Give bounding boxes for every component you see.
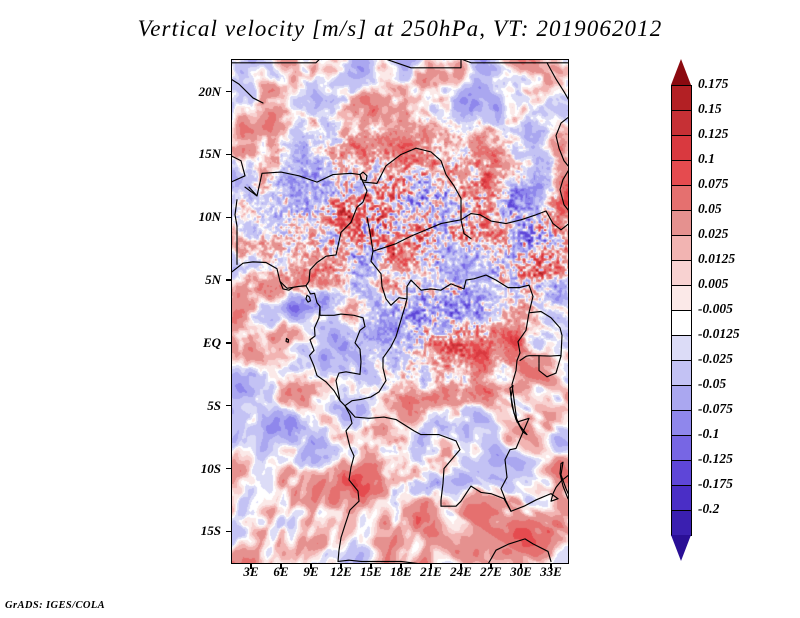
colorbar-tick-label: -0.2 bbox=[698, 501, 719, 517]
colorbar-tick-label: -0.125 bbox=[698, 451, 733, 467]
colorbar-arrow-min bbox=[671, 535, 691, 561]
map-panel[interactable] bbox=[231, 59, 569, 564]
colorbar[interactable] bbox=[671, 59, 692, 561]
colorbar-band bbox=[671, 410, 692, 436]
y-tick bbox=[226, 217, 231, 218]
y-tick bbox=[226, 342, 231, 343]
colorbar-band bbox=[671, 210, 692, 236]
colorbar-tick-label: -0.075 bbox=[698, 401, 733, 417]
y-tick bbox=[226, 91, 231, 92]
colorbar-band bbox=[671, 460, 692, 486]
colorbar-arrow-max bbox=[671, 59, 691, 85]
colorbar-tick-label: 0.175 bbox=[698, 76, 728, 92]
colorbar-tick-label: -0.05 bbox=[698, 376, 726, 392]
colorbar-tick-label: -0.1 bbox=[698, 426, 719, 442]
y-tick bbox=[226, 405, 231, 406]
colorbar-band bbox=[671, 285, 692, 311]
colorbar-band bbox=[671, 185, 692, 211]
y-tick bbox=[226, 279, 231, 280]
colorbar-tick-label: -0.005 bbox=[698, 301, 733, 317]
y-tick bbox=[226, 154, 231, 155]
colorbar-band bbox=[671, 110, 692, 136]
grads-figure: Vertical velocity [m/s] at 250hPa, VT: 2… bbox=[0, 0, 800, 618]
y-axis-label: 15S bbox=[171, 523, 221, 539]
colorbar-tick-label: 0.05 bbox=[698, 201, 722, 217]
y-axis-label: 20N bbox=[171, 84, 221, 100]
attribution-footer: GrADS: IGES/COLA bbox=[5, 600, 105, 611]
page-title: Vertical velocity [m/s] at 250hPa, VT: 2… bbox=[0, 16, 800, 42]
y-axis-label: 15N bbox=[171, 146, 221, 162]
colorbar-band bbox=[671, 310, 692, 336]
colorbar-band bbox=[671, 385, 692, 411]
y-axis-label: 5S bbox=[171, 398, 221, 414]
colorbar-band bbox=[671, 135, 692, 161]
colorbar-band bbox=[671, 335, 692, 361]
colorbar-tick-label: -0.0125 bbox=[698, 326, 740, 342]
colorbar-band bbox=[671, 510, 692, 536]
colorbar-tick-label: 0.025 bbox=[698, 226, 728, 242]
colorbar-tick-label: 0.0125 bbox=[698, 251, 735, 267]
colorbar-band bbox=[671, 160, 692, 186]
y-axis-label: EQ bbox=[171, 335, 221, 351]
colorbar-tick-label: -0.025 bbox=[698, 351, 733, 367]
y-axis-label: 5N bbox=[171, 272, 221, 288]
y-tick bbox=[226, 531, 231, 532]
colorbar-band bbox=[671, 85, 692, 111]
vertical-velocity-heatmap bbox=[231, 59, 569, 564]
x-axis-label: 33E bbox=[521, 564, 581, 580]
colorbar-band bbox=[671, 360, 692, 386]
colorbar-band bbox=[671, 485, 692, 511]
colorbar-tick-label: 0.005 bbox=[698, 276, 728, 292]
colorbar-tick-label: 0.1 bbox=[698, 151, 715, 167]
y-axis-label: 10S bbox=[171, 461, 221, 477]
y-axis-label: 10N bbox=[171, 209, 221, 225]
colorbar-tick-label: 0.15 bbox=[698, 101, 722, 117]
colorbar-band bbox=[671, 435, 692, 461]
colorbar-band bbox=[671, 235, 692, 261]
y-tick bbox=[226, 468, 231, 469]
colorbar-tick-label: 0.075 bbox=[698, 176, 728, 192]
colorbar-tick-label: -0.175 bbox=[698, 476, 733, 492]
colorbar-tick-label: 0.125 bbox=[698, 126, 728, 142]
colorbar-band bbox=[671, 260, 692, 286]
